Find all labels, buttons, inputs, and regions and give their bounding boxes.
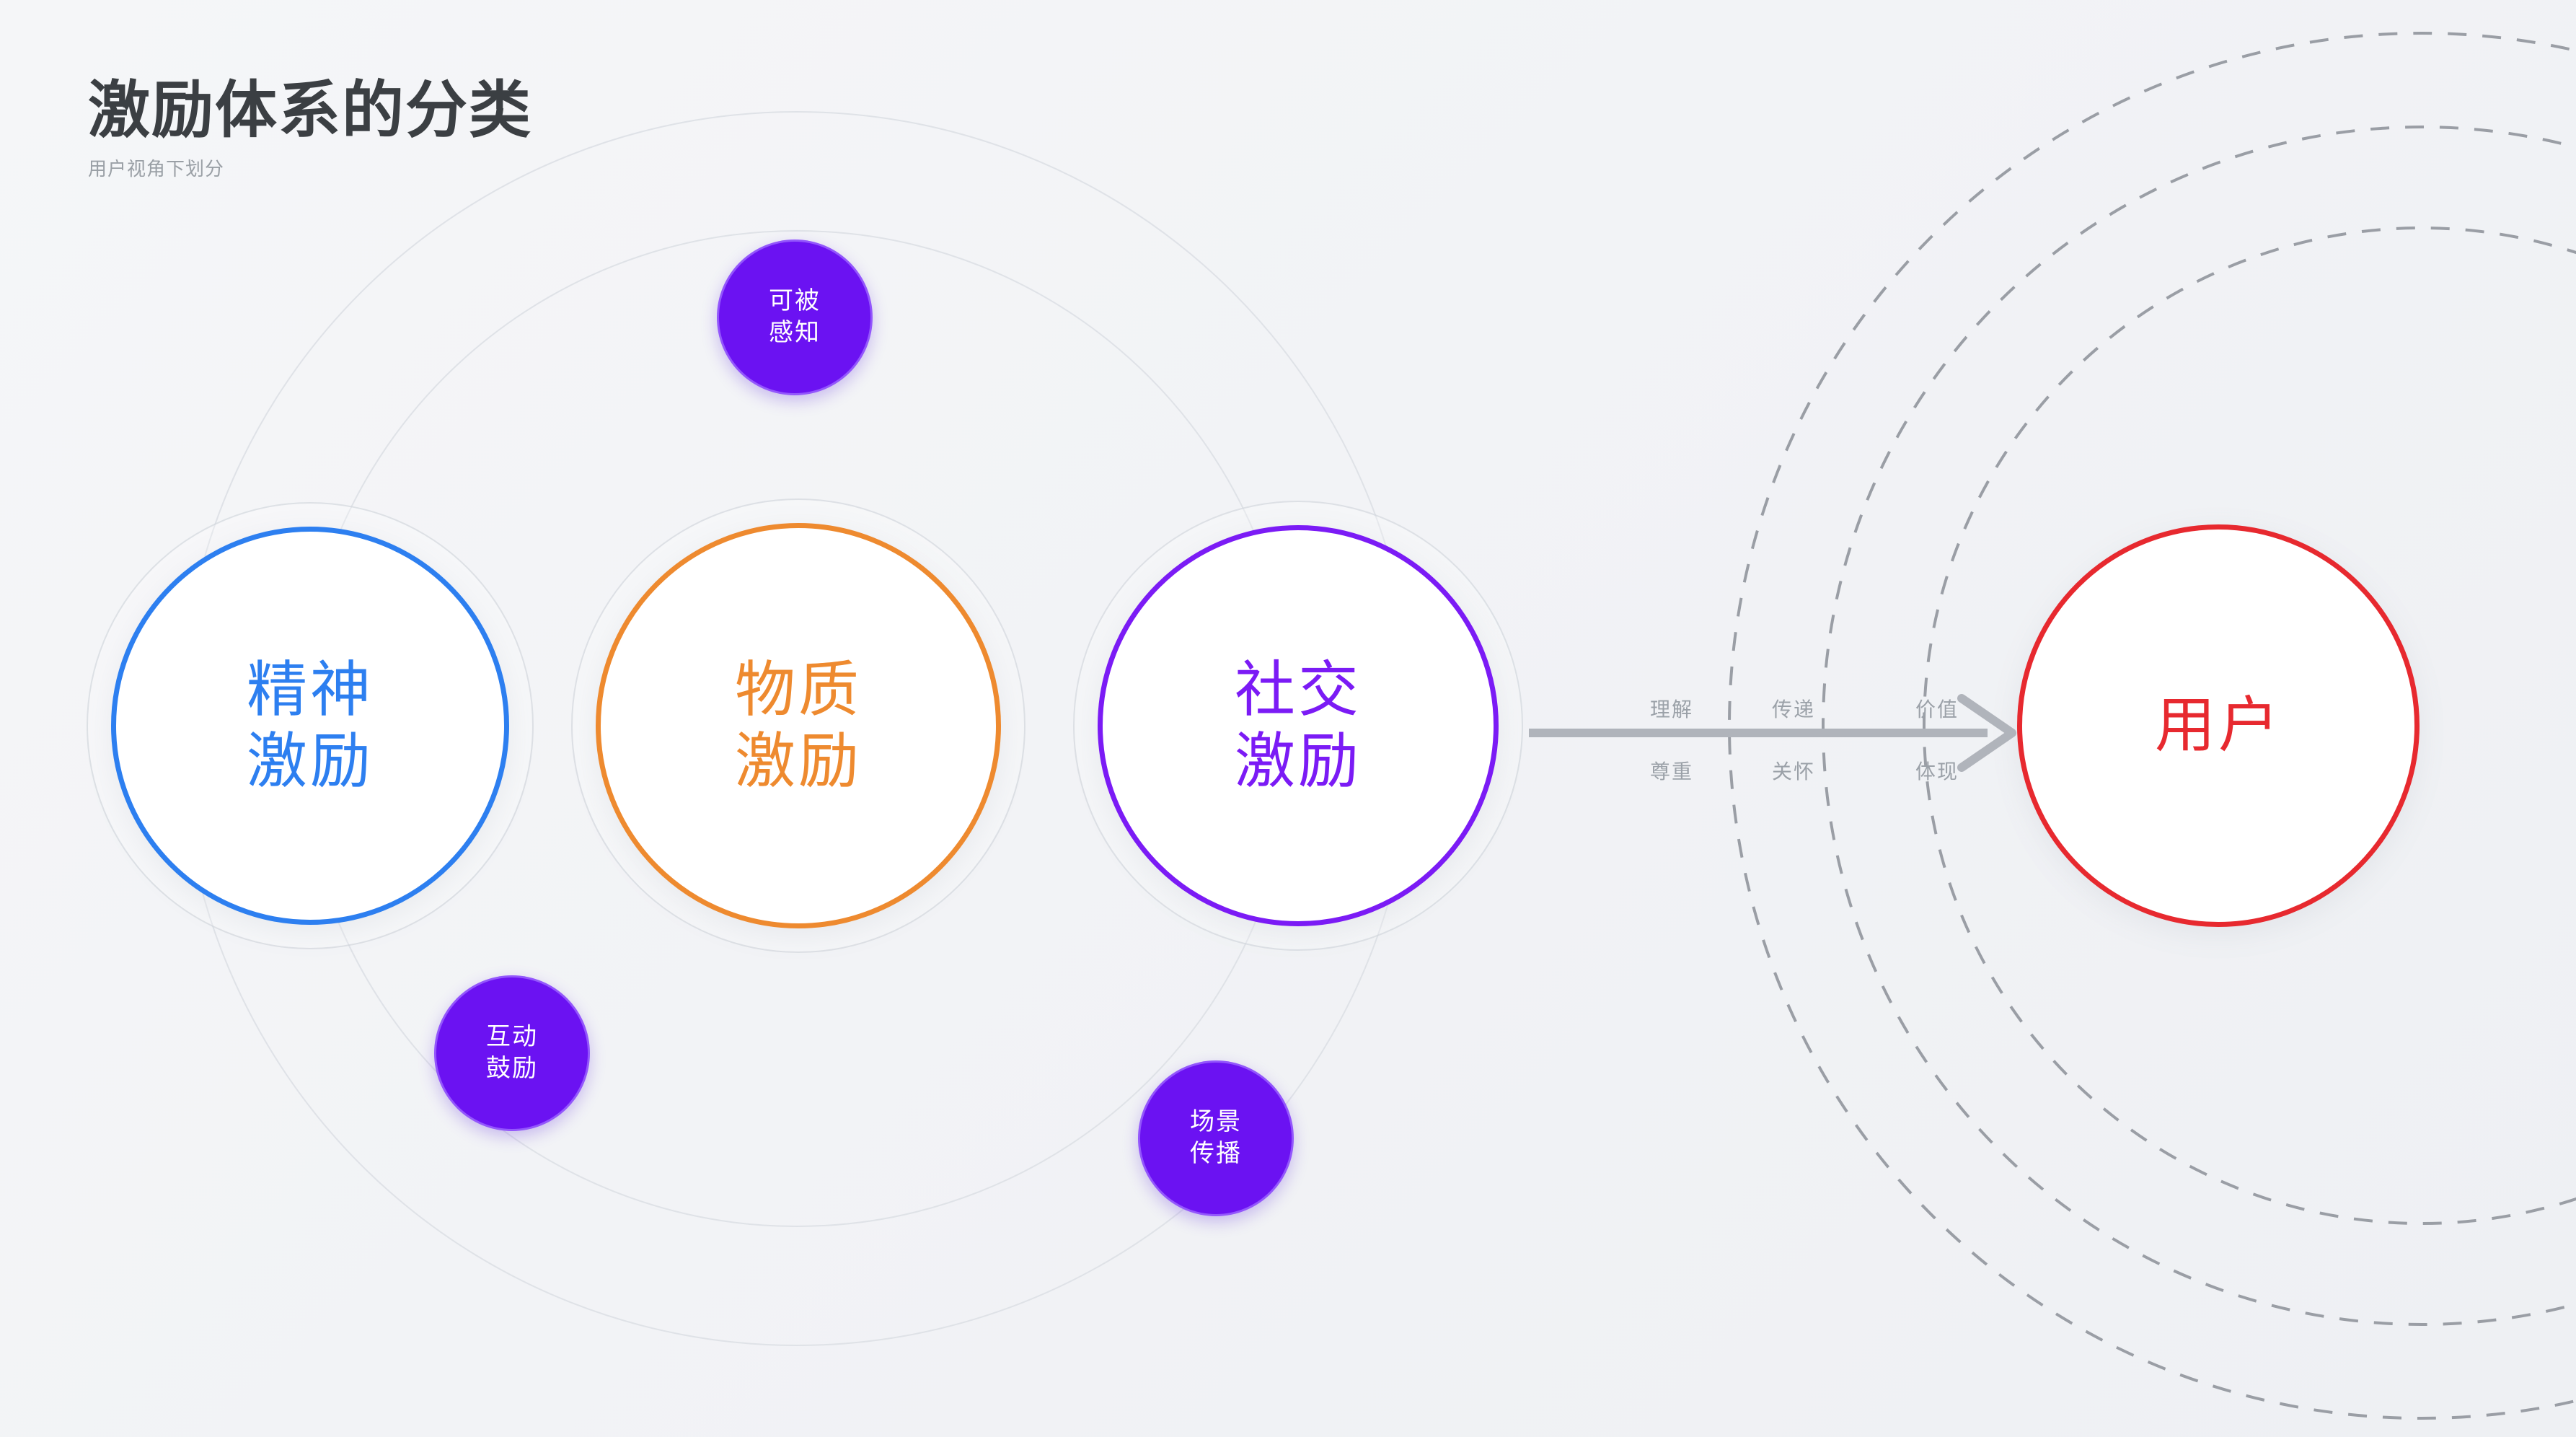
badge-interaction[interactable]: 互动鼓励: [434, 975, 590, 1131]
circle-material[interactable]: 物质激励: [596, 523, 1001, 928]
flow-label-bottom-1: 关怀: [1772, 756, 1815, 785]
circle-social[interactable]: 社交激励: [1098, 525, 1499, 926]
header: 激励体系的分类 用户视角下划分: [88, 78, 532, 181]
badge-scenario-label-1: 传播: [1190, 1138, 1242, 1170]
flow-label-bottom-0: 尊重: [1650, 756, 1693, 785]
flow-label-bottom-2: 体现: [1915, 756, 1959, 785]
circle-material-label-0: 物质: [735, 654, 862, 726]
circle-spiritual[interactable]: 精神激励: [111, 527, 509, 925]
circle-social-label-1: 激励: [1235, 726, 1362, 797]
diagram-canvas: 激励体系的分类 用户视角下划分 精神激励物质激励社交激励用户 可被感知互动鼓励场…: [0, 0, 2576, 1437]
circle-spiritual-label-1: 激励: [247, 726, 374, 797]
circle-user-label-0: 用户: [2155, 690, 2282, 761]
circle-social-label-0: 社交: [1235, 654, 1362, 726]
badge-perceivable[interactable]: 可被感知: [717, 239, 873, 395]
badge-perceivable-label-1: 感知: [769, 317, 821, 349]
flow-label-top-0: 理解: [1650, 694, 1693, 723]
flow-label-top-2: 价值: [1915, 694, 1959, 723]
page-title: 激励体系的分类: [88, 78, 532, 143]
arrow-head-icon: [1962, 698, 2012, 768]
badge-interaction-label-0: 互动: [486, 1021, 538, 1053]
circle-user[interactable]: 用户: [2017, 524, 2420, 927]
badge-interaction-label-1: 鼓励: [486, 1053, 538, 1085]
badge-perceivable-label-0: 可被: [769, 286, 821, 317]
page-subtitle: 用户视角下划分: [88, 154, 532, 181]
circle-material-label-1: 激励: [735, 726, 862, 797]
circle-spiritual-label-0: 精神: [247, 654, 374, 726]
badge-scenario[interactable]: 场景传播: [1138, 1060, 1294, 1216]
badge-scenario-label-0: 场景: [1190, 1107, 1242, 1138]
flow-label-top-1: 传递: [1772, 694, 1815, 723]
